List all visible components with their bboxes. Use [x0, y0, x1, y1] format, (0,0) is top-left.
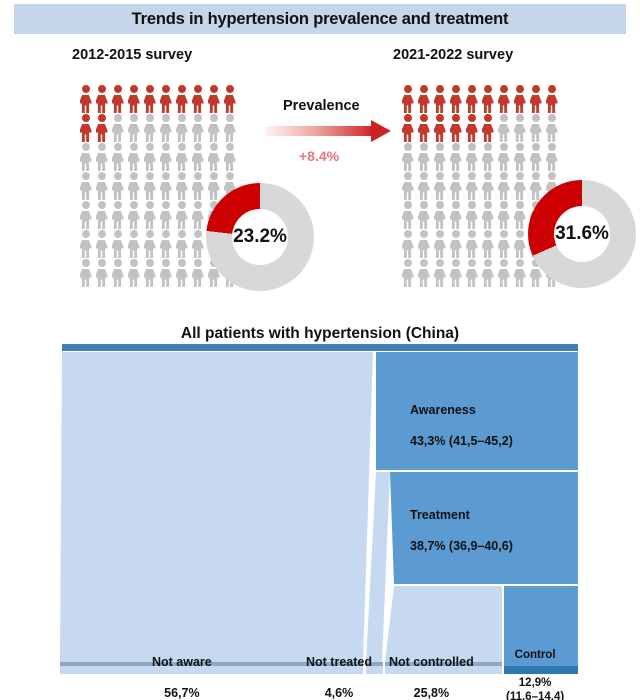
- person-icon-empty: [416, 230, 431, 259]
- person-icon-empty: [480, 230, 495, 259]
- person-icon-empty: [190, 143, 205, 172]
- person-icon-filled: [480, 85, 495, 114]
- sankey-title: All patients with hypertension (China): [0, 325, 640, 343]
- person-icon-filled: [448, 114, 463, 143]
- person-icon-empty: [496, 143, 511, 172]
- person-icon-filled: [544, 85, 559, 114]
- person-icon-empty: [174, 259, 189, 288]
- person-icon-filled: [126, 85, 141, 114]
- person-icon-filled: [400, 114, 415, 143]
- person-icon-filled: [480, 114, 495, 143]
- person-icon-filled: [174, 85, 189, 114]
- person-icon-empty: [110, 230, 125, 259]
- person-icon-filled: [400, 85, 415, 114]
- person-icon-empty: [464, 201, 479, 230]
- person-icon-empty: [512, 230, 527, 259]
- person-icon-empty: [142, 114, 157, 143]
- header-banner: Trends in hypertension prevalence and tr…: [14, 4, 626, 34]
- person-icon-empty: [496, 114, 511, 143]
- sankey-label-control-title: Control: [506, 648, 564, 662]
- person-icon-empty: [94, 201, 109, 230]
- person-icon-filled: [222, 85, 237, 114]
- person-icon-empty: [432, 230, 447, 259]
- person-icon-empty: [400, 143, 415, 172]
- sankey-label-not-aware: Not aware 56,7%: [152, 640, 212, 700]
- sankey-label-not-treated: Not treated 4,6%: [306, 640, 372, 700]
- person-icon-empty: [464, 143, 479, 172]
- person-icon-empty: [94, 259, 109, 288]
- sankey-label-awareness-title: Awareness: [410, 403, 513, 418]
- person-icon-filled: [464, 85, 479, 114]
- person-icon-filled: [464, 114, 479, 143]
- person-icon-empty: [126, 172, 141, 201]
- person-icon-empty: [110, 172, 125, 201]
- person-icon-empty: [416, 172, 431, 201]
- person-icon-empty: [528, 172, 543, 201]
- person-icon-empty: [158, 230, 173, 259]
- donut-chart-2012-2015: 23.2%: [206, 183, 314, 291]
- survey-label-left: 2012-2015 survey: [72, 47, 192, 63]
- person-icon-empty: [206, 114, 221, 143]
- person-icon-empty: [512, 201, 527, 230]
- person-icon-empty: [400, 230, 415, 259]
- person-icon-empty: [174, 114, 189, 143]
- person-icon-empty: [512, 143, 527, 172]
- person-icon-empty: [480, 201, 495, 230]
- donut-value-left: 23.2%: [233, 226, 287, 248]
- person-icon-empty: [400, 259, 415, 288]
- person-icon-empty: [512, 114, 527, 143]
- person-icon-empty: [158, 172, 173, 201]
- person-icon-empty: [448, 143, 463, 172]
- person-icon-empty: [416, 201, 431, 230]
- person-icon-empty: [158, 114, 173, 143]
- person-icon-empty: [78, 230, 93, 259]
- person-icon-empty: [432, 259, 447, 288]
- person-icon-filled: [512, 85, 527, 114]
- person-icon-filled: [206, 85, 221, 114]
- person-icon-empty: [544, 114, 559, 143]
- person-icon-empty: [448, 259, 463, 288]
- person-icon-empty: [174, 143, 189, 172]
- sankey-label-awareness: Awareness 43,3% (41,5–45,2): [410, 388, 513, 464]
- person-icon-empty: [432, 172, 447, 201]
- sankey-label-not-controlled-value: 25,8%: [389, 686, 474, 700]
- person-icon-empty: [416, 259, 431, 288]
- sankey-label-not-controlled-title: Not controlled: [389, 655, 474, 670]
- person-icon-empty: [480, 172, 495, 201]
- person-icon-empty: [94, 230, 109, 259]
- person-icon-empty: [512, 259, 527, 288]
- sankey-label-not-aware-value: 56,7%: [152, 686, 212, 700]
- sankey-label-awareness-value: 43,3% (41,5–45,2): [410, 434, 513, 449]
- person-icon-filled: [78, 114, 93, 143]
- person-icon-empty: [78, 172, 93, 201]
- person-icon-empty: [126, 143, 141, 172]
- person-icon-empty: [94, 172, 109, 201]
- person-icon-empty: [206, 143, 221, 172]
- person-icon-empty: [222, 143, 237, 172]
- sankey-label-not-controlled: Not controlled 25,8%: [389, 640, 474, 700]
- person-icon-empty: [110, 143, 125, 172]
- person-icon-empty: [448, 201, 463, 230]
- person-icon-filled: [190, 85, 205, 114]
- person-icon-empty: [142, 201, 157, 230]
- person-icon-empty: [142, 172, 157, 201]
- person-icon-empty: [190, 114, 205, 143]
- survey-label-right: 2021-2022 survey: [393, 47, 513, 63]
- person-icon-empty: [94, 143, 109, 172]
- sankey-label-treatment-title: Treatment: [410, 508, 513, 523]
- person-icon-empty: [480, 143, 495, 172]
- person-icon-empty: [400, 201, 415, 230]
- person-icon-empty: [496, 172, 511, 201]
- donut-chart-2021-2022: 31.6%: [528, 180, 636, 288]
- person-icon-empty: [496, 230, 511, 259]
- person-icon-filled: [142, 85, 157, 114]
- person-icon-empty: [528, 143, 543, 172]
- person-icon-empty: [78, 259, 93, 288]
- person-icon-empty: [448, 172, 463, 201]
- person-icon-empty: [110, 259, 125, 288]
- person-icon-empty: [528, 114, 543, 143]
- sankey-label-not-treated-title: Not treated: [306, 655, 372, 670]
- person-icon-empty: [174, 201, 189, 230]
- person-icon-empty: [126, 201, 141, 230]
- sankey-label-control: Control 12,9% (11.6–14.4): [506, 634, 564, 700]
- person-icon-empty: [496, 201, 511, 230]
- person-icon-empty: [158, 201, 173, 230]
- sankey-label-treatment: Treatment 38,7% (36,9–40,6): [410, 493, 513, 569]
- person-icon-empty: [464, 230, 479, 259]
- person-icon-filled: [496, 85, 511, 114]
- person-icon-empty: [158, 143, 173, 172]
- person-icon-filled: [432, 85, 447, 114]
- person-icon-empty: [142, 143, 157, 172]
- person-icon-empty: [174, 172, 189, 201]
- person-icon-filled: [432, 114, 447, 143]
- sankey-flow-not-treated: [366, 472, 390, 662]
- person-icon-empty: [206, 172, 221, 201]
- person-icon-filled: [94, 114, 109, 143]
- person-icon-filled: [94, 85, 109, 114]
- person-icon-empty: [432, 201, 447, 230]
- sankey-node-all-patients: [62, 344, 578, 351]
- page-title: Trends in hypertension prevalence and tr…: [132, 10, 509, 29]
- person-icon-empty: [464, 259, 479, 288]
- sankey-label-not-treated-value: 4,6%: [306, 686, 372, 700]
- person-icon-empty: [400, 172, 415, 201]
- person-icon-empty: [110, 201, 125, 230]
- prevalence-label: Prevalence: [283, 98, 360, 114]
- person-icon-empty: [78, 143, 93, 172]
- person-icon-empty: [126, 259, 141, 288]
- person-icon-empty: [110, 114, 125, 143]
- person-icon-empty: [512, 172, 527, 201]
- person-icon-empty: [448, 230, 463, 259]
- prevalence-delta: +8.4%: [299, 148, 339, 164]
- person-icon-filled: [528, 85, 543, 114]
- person-icon-empty: [544, 143, 559, 172]
- person-icon-empty: [126, 114, 141, 143]
- sankey-label-control-value: 12,9% (11.6–14.4): [506, 676, 564, 700]
- person-icon-empty: [190, 172, 205, 201]
- donut-value-right: 31.6%: [555, 223, 609, 245]
- sankey-flow-not-aware: [60, 352, 373, 662]
- sankey-label-not-aware-title: Not aware: [152, 655, 212, 670]
- person-icon-empty: [190, 201, 205, 230]
- person-icon-empty: [416, 143, 431, 172]
- person-icon-filled: [78, 85, 93, 114]
- prevalence-arrow-icon: [265, 120, 395, 142]
- person-icon-empty: [464, 172, 479, 201]
- person-icon-filled: [416, 114, 431, 143]
- person-icon-filled: [448, 85, 463, 114]
- person-icon-empty: [480, 259, 495, 288]
- person-icon-empty: [126, 230, 141, 259]
- sankey-label-treatment-value: 38,7% (36,9–40,6): [410, 539, 513, 554]
- person-icon-empty: [432, 143, 447, 172]
- person-icon-empty: [78, 201, 93, 230]
- person-icon-empty: [190, 230, 205, 259]
- person-icon-empty: [190, 259, 205, 288]
- person-icon-empty: [142, 230, 157, 259]
- person-icon-empty: [496, 259, 511, 288]
- person-icon-empty: [142, 259, 157, 288]
- person-icon-filled: [158, 85, 173, 114]
- person-icon-empty: [222, 114, 237, 143]
- person-icon-empty: [158, 259, 173, 288]
- person-icon-empty: [174, 230, 189, 259]
- person-icon-filled: [416, 85, 431, 114]
- person-icon-filled: [110, 85, 125, 114]
